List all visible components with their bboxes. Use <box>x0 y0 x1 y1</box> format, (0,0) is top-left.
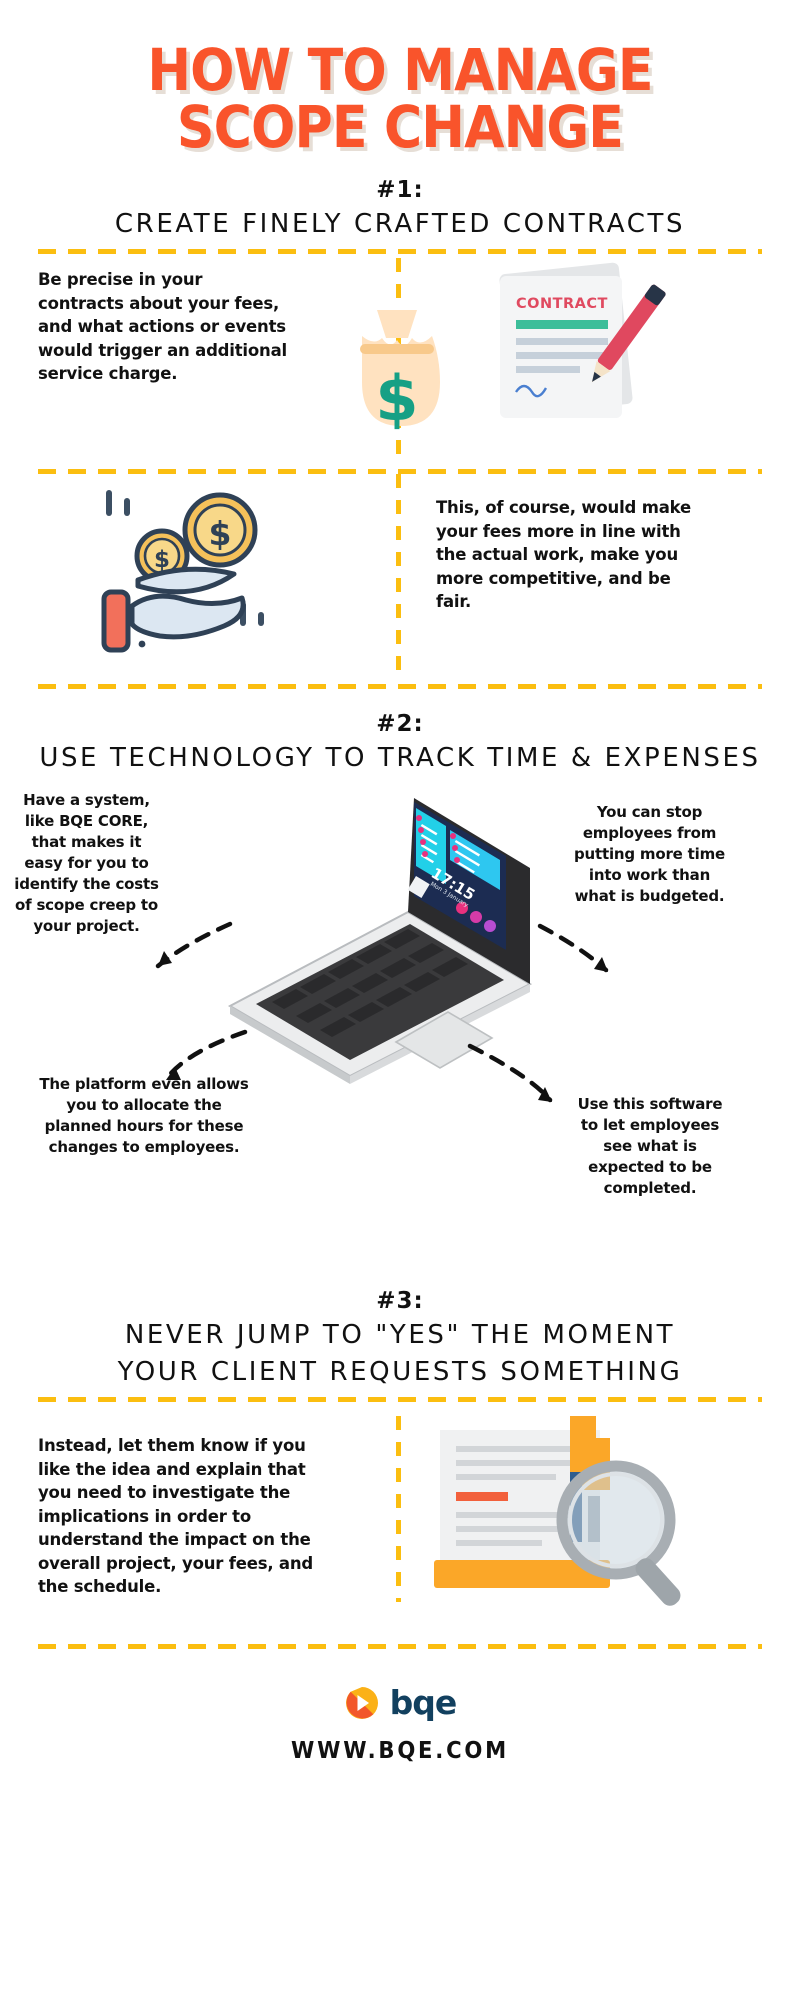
section-1-heading: CREATE FINELY CRAFTED CONTRACTS <box>18 209 782 240</box>
section-1-text-2: This, of course, would make your fees mo… <box>436 496 691 613</box>
section-1-row-1: Be precise in your contracts about your … <box>0 254 800 459</box>
page-title: How to Manage scope change <box>0 0 800 155</box>
section-1-number: #1: <box>0 177 800 203</box>
section-3-text-1: Instead, let them know if you like the i… <box>38 1434 336 1598</box>
svg-text:CONTRACT: CONTRACT <box>516 296 608 312</box>
section-2-heading: USE TECHNOLOGY TO TRACK TIME & EXPENSES <box>18 743 782 774</box>
section-1-row-2: $ $ This, of course, would make your fee… <box>0 474 800 674</box>
section-2-number: #2: <box>0 711 800 737</box>
section-2-body: Have a system, like BQE CORE, that makes… <box>0 774 800 1284</box>
section-1-text-1: Be precise in your contracts about your … <box>38 268 293 385</box>
brand-logo[interactable]: bqe <box>0 1683 800 1722</box>
section-3-heading-line-2: YOUR CLIENT REQUESTS SOMETHING <box>18 1357 782 1388</box>
vertical-divider-3 <box>396 1416 401 1602</box>
title-line-2: scope change <box>40 101 760 154</box>
section-3-heading-line-1: NEVER JUMP TO "YES" THE MOMENT <box>18 1320 782 1351</box>
svg-text:$: $ <box>209 514 232 553</box>
brand-logo-text: bqe <box>390 1683 457 1722</box>
footer-url[interactable]: WWW.BQE.COM <box>32 1738 768 1764</box>
infographic-page: How to Manage scope change #1: CREATE FI… <box>0 0 800 2000</box>
contract-document-illustration: CONTRACT <box>480 262 670 437</box>
section-3-body: Instead, let them know if you like the i… <box>0 1402 800 1622</box>
svg-text:$: $ <box>375 362 418 435</box>
vertical-divider-2 <box>396 474 401 670</box>
document-magnifier-illustration <box>420 1412 710 1617</box>
divider-dashed-3 <box>38 684 762 689</box>
arrow-bottom-right <box>0 774 800 1284</box>
section-2: #2: USE TECHNOLOGY TO TRACK TIME & EXPEN… <box>0 711 800 1284</box>
section-3: #3: NEVER JUMP TO "YES" THE MOMENT YOUR … <box>0 1288 800 1649</box>
section-3-number: #3: <box>0 1288 800 1314</box>
money-bag-illustration: $ <box>322 302 472 457</box>
cash-in-hand-illustration: $ $ <box>70 484 300 664</box>
footer: bqe WWW.BQE.COM <box>0 1683 800 1764</box>
svg-text:$: $ <box>154 547 170 573</box>
divider-dashed-5 <box>38 1644 762 1649</box>
title-line-1: How to Manage <box>40 44 760 97</box>
play-circle-icon <box>344 1685 380 1721</box>
section-1: #1: CREATE FINELY CRAFTED CONTRACTS Be p… <box>0 177 800 690</box>
